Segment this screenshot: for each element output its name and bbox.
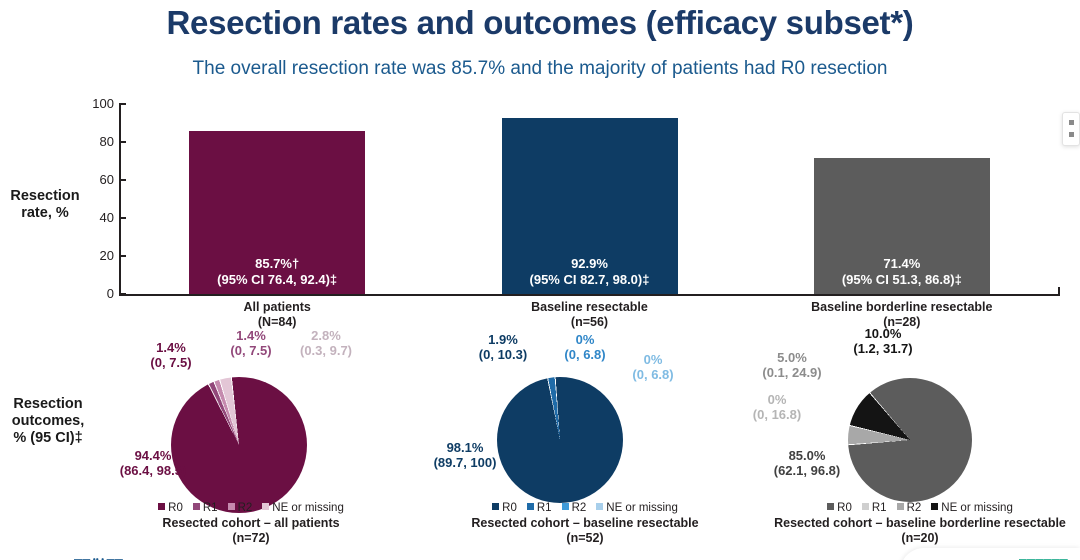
bar-value-line: 85.7%† (127, 256, 427, 272)
x-axis-line (119, 294, 1060, 296)
bar[interactable]: 92.9%(95% CI 82.7, 98.0)‡ (502, 118, 678, 295)
axis-label-line-1: Resection (13, 396, 82, 412)
y-axis-tick-label: 40 (64, 211, 114, 224)
legend-swatch-icon (492, 503, 499, 510)
legend-label: R1 (203, 502, 218, 514)
footnote-right: —————— (1019, 555, 1068, 560)
pie-caption-line: (n=20) (760, 531, 1080, 546)
page-title: Resection rates and outcomes (efficacy s… (0, 4, 1080, 42)
pie-slice-label: 0%(0, 6.8) (598, 352, 708, 382)
bar[interactable]: 85.7%†(95% CI 76.4, 92.4)‡ (189, 131, 365, 294)
pie-circle[interactable] (171, 377, 307, 513)
pie-slice-ci: (89.7, 100) (390, 455, 540, 470)
category-label: All patients(N=84) (97, 300, 457, 330)
footnote-left: —— •• • —— (74, 555, 123, 560)
pie-slice-value: 94.4% (78, 448, 228, 463)
bar-value-line: (95% CI 82.7, 98.0)‡ (440, 272, 740, 288)
bar-value-line: 92.9% (440, 256, 740, 272)
y-axis-line (119, 104, 121, 296)
legend-label: NE or missing (606, 502, 678, 514)
y-axis-tick (119, 141, 126, 143)
x-axis-endcap (1058, 287, 1060, 296)
pie-slice-ci: (0.1, 24.9) (722, 365, 862, 380)
legend-item[interactable]: R0 (158, 502, 183, 514)
pie-slice-value: 10.0% (808, 326, 958, 341)
axis-label-line-3: % (95 CI)‡ (13, 430, 82, 446)
pie-caption-line: Resected cohort – baseline borderline re… (760, 516, 1080, 531)
legend-label: R0 (168, 502, 183, 514)
slide-root: Resection rates and outcomes (efficacy s… (0, 0, 1080, 560)
legend-swatch-icon (596, 503, 603, 510)
page-subtitle: The overall resection rate was 85.7% and… (0, 58, 1080, 80)
pie-slice-value: 2.8% (261, 328, 391, 343)
legend-swatch-icon (193, 503, 200, 510)
legend-label: R0 (837, 502, 852, 514)
bar-value-label: 92.9%(95% CI 82.7, 98.0)‡ (440, 256, 740, 288)
pie-chart-baseline-borderline-resectable: 85.0%(62.1, 96.8)0%(0, 16.8)5.0%(0.1, 24… (760, 330, 1080, 560)
pie-slice-ci: (1.2, 31.7) (808, 341, 958, 356)
y-axis-tick-label: 80 (64, 135, 114, 148)
axis-label-resection-outcomes: Resection outcomes, % (95 CI)‡ (2, 396, 94, 447)
pie-caption-line: (n=52) (430, 531, 740, 546)
more-options-icon (1069, 120, 1074, 125)
pie-slice-ci: (0, 16.8) (712, 407, 842, 422)
legend-swatch-icon (262, 503, 269, 510)
legend-swatch-icon (228, 503, 235, 510)
legend-label: R1 (537, 502, 552, 514)
pie-slice-label: 2.8%(0.3, 9.7) (261, 328, 391, 358)
pie-slice-ci: (0, 6.8) (598, 367, 708, 382)
legend-item[interactable]: NE or missing (596, 502, 678, 514)
legend-label: NE or missing (941, 502, 1013, 514)
pie-slice-label: 85.0%(62.1, 96.8) (732, 448, 882, 478)
legend-swatch-icon (158, 503, 165, 510)
y-axis-tick (119, 103, 126, 105)
legend-label: R2 (572, 502, 587, 514)
category-label: Baseline resectable(n=56) (410, 300, 770, 330)
axis-label-line-2: outcomes, (12, 413, 85, 429)
y-axis-tick (119, 179, 126, 181)
legend-label: R0 (502, 502, 517, 514)
bar-value-label: 71.4%(95% CI 51.3, 86.8)‡ (752, 256, 1052, 288)
axis-label-line-1: Resection (10, 188, 79, 204)
pie-caption-line: (n=72) (96, 531, 406, 546)
legend-item[interactable]: NE or missing (262, 502, 344, 514)
pie-slice-ci: (62.1, 96.8) (732, 463, 882, 478)
pie-slice-value: 0% (598, 352, 708, 367)
legend-item[interactable]: R1 (193, 502, 218, 514)
legend-item[interactable]: R2 (228, 502, 253, 514)
legend-swatch-icon (562, 503, 569, 510)
y-axis-tick-label: 60 (64, 173, 114, 186)
side-panel-fragment[interactable] (1062, 112, 1080, 146)
y-axis-tick (119, 293, 126, 295)
pie-caption-line: Resected cohort – baseline resectable (430, 516, 740, 531)
legend-item[interactable]: R0 (492, 502, 517, 514)
legend-item[interactable]: NE or missing (931, 502, 1013, 514)
legend-swatch-icon (897, 503, 904, 510)
legend-swatch-icon (527, 503, 534, 510)
pie-chart-baseline-resectable: 98.1%(89.7, 100)1.9%(0, 10.3)0%(0, 6.8)0… (430, 330, 740, 560)
legend-label: R2 (238, 502, 253, 514)
pie-caption: Resected cohort – baseline resectable(n=… (430, 516, 740, 546)
pie-slice-label: 0%(0, 16.8) (712, 392, 842, 422)
legend-swatch-icon (931, 503, 938, 510)
bar-value-line: 71.4% (752, 256, 1052, 272)
legend-label: R1 (872, 502, 887, 514)
category-label-line: Baseline resectable (410, 300, 770, 315)
more-options-icon (1069, 132, 1074, 137)
legend-item[interactable]: R0 (827, 502, 852, 514)
pie-chart-all-patients: 94.4%(86.4, 98.5)1.4%(0, 7.5)1.4%(0, 7.5… (96, 330, 406, 560)
pie-slice-label: 94.4%(86.4, 98.5) (78, 448, 228, 478)
pie-slice-ci: (86.4, 98.5) (78, 463, 228, 478)
y-axis-tick-label: 20 (64, 249, 114, 262)
pie-slice-ci: (0.3, 9.7) (261, 343, 391, 358)
axis-label-line-2: rate, % (21, 205, 69, 221)
bar-value-label: 85.7%†(95% CI 76.4, 92.4)‡ (127, 256, 427, 288)
pie-slice-label: 10.0%(1.2, 31.7) (808, 326, 958, 356)
y-axis-tick (119, 217, 126, 219)
pie-legend: R0R1R2NE or missing (760, 502, 1080, 514)
pie-legend: R0R1R2NE or missing (430, 502, 740, 514)
legend-swatch-icon (827, 503, 834, 510)
pie-legend: R0R1R2NE or missing (96, 502, 406, 514)
pie-slice-label: 98.1%(89.7, 100) (390, 440, 540, 470)
legend-label: R2 (907, 502, 922, 514)
category-label-line: (n=56) (410, 315, 770, 330)
pie-caption: Resected cohort – baseline borderline re… (760, 516, 1080, 546)
legend-label: NE or missing (272, 502, 344, 514)
y-axis-tick (119, 255, 126, 257)
bar-value-line: (95% CI 51.3, 86.8)‡ (752, 272, 1052, 288)
pie-slice-value: 0% (712, 392, 842, 407)
legend-swatch-icon (862, 503, 869, 510)
category-label-line: Baseline borderline resectable (722, 300, 1080, 315)
legend-item[interactable]: R1 (527, 502, 552, 514)
pie-slice-value: 98.1% (390, 440, 540, 455)
y-axis-tick-label: 0 (64, 287, 114, 300)
bar-value-line: (95% CI 76.4, 92.4)‡ (127, 272, 427, 288)
pie-slice-value: 0% (530, 332, 640, 347)
y-axis-tick-label: 100 (64, 97, 114, 110)
pie-caption-line: Resected cohort – all patients (96, 516, 406, 531)
legend-item[interactable]: R2 (897, 502, 922, 514)
category-label-line: All patients (97, 300, 457, 315)
pie-circle[interactable] (848, 378, 972, 502)
legend-item[interactable]: R1 (862, 502, 887, 514)
legend-item[interactable]: R2 (562, 502, 587, 514)
pie-caption: Resected cohort – all patients(n=72) (96, 516, 406, 546)
bar-chart: 020406080100 85.7%†(95% CI 76.4, 92.4)‡9… (96, 104, 1060, 296)
pie-slice-value: 85.0% (732, 448, 882, 463)
bar[interactable]: 71.4%(95% CI 51.3, 86.8)‡ (814, 158, 990, 294)
